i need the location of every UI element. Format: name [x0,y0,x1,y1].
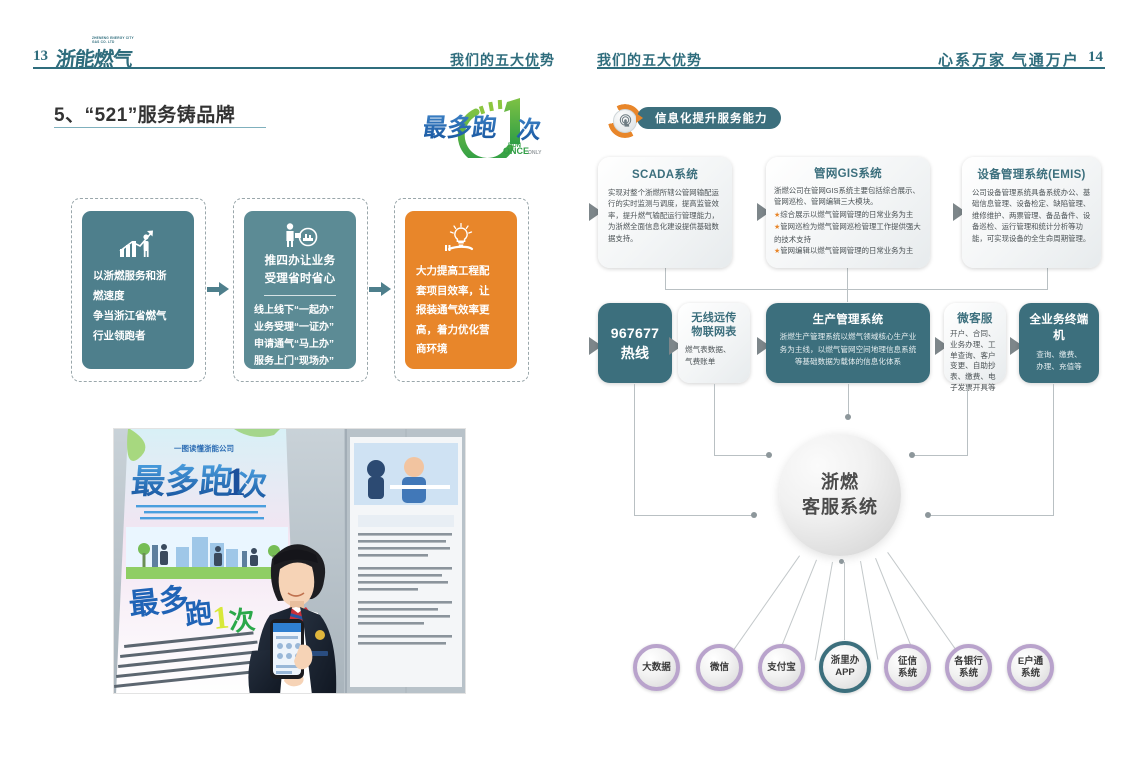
right-header-right: 心系万家 气通万户 [938,49,1080,70]
right-page-number: 14 [1088,49,1103,66]
system-box-iot-meter-title-1: 无线远传 [685,311,743,325]
advantage-card-2: 推四办让业务 受理省时省心 线上线下“一起办” 业务受理“一证办” 申请通气“马… [244,211,356,369]
page-gutter [567,0,568,780]
hub-customer-service-system: 浙燃 客服系统 [779,434,901,556]
system-box-gis-bullet-3: ★管网编辑以燃气管网管理的日常业务为主 [774,245,922,257]
connector-dot-left-inner [766,452,772,458]
system-box-terminal: 全业务终端机 查询、缴费、 办理、充值等 [1019,303,1099,383]
channel-node-big-data[interactable]: 大数据 [633,644,680,691]
connector-gis-v [847,268,848,302]
advantage-card-3-line-4: 高，着力优化营 [416,321,506,341]
advantage-card-2-divider [264,295,336,296]
system-box-wechat-service-body: 开户、合同、业务办理、工单查询、客户变更、自助抄表、缴费、电子发票开具等 [950,329,1000,394]
section-badge-label: 信息化提升服务能力 [637,107,781,129]
spoke-line-4 [844,562,845,640]
connector-production-v [848,384,849,416]
system-box-production: 生产管理系统 浙燃生产管理系统以燃气领域核心生产业务为主线，以燃气管网空间地理信… [766,303,930,383]
presentation-spread: 13 ZHENENG ENERGY CITY GAS CO. LTD 浙能燃气 … [0,0,1135,780]
system-box-hotline: 967677 热线 [598,303,672,383]
svg-text:最多跑: 最多跑 [424,114,499,142]
channel-label-banks-1: 各银行 [954,656,983,668]
connector-wechat-v [967,384,968,456]
connector-terminal-h [928,515,1054,516]
svg-text:ONLY: ONLY [528,150,542,156]
channel-node-credit-system[interactable]: 征信 系统 [884,644,931,691]
spoke-line-5 [860,561,878,660]
system-box-emis-title: 设备管理系统(EMIS) [972,166,1091,182]
system-box-gis: 管网GIS系统 浙燃公司在管网GIS系统主要包括综合展示、管网巡检、管网编辑三大… [766,157,930,268]
channel-label-banks-2: 系统 [954,668,983,680]
svg-text:一图读懂浙能公司: 一图读懂浙能公司 [174,443,234,453]
system-box-production-title: 生产管理系统 [777,311,919,327]
channel-node-alipay[interactable]: 支付宝 [758,644,805,691]
system-box-scada-title: SCADA系统 [608,166,722,182]
hub-line-1: 浙燃 [821,470,859,495]
connector-terminal-v [1053,384,1054,516]
service-counter-icon [244,211,356,248]
system-box-iot-meter-title-2: 物联网表 [685,325,743,339]
advantage-card-1-line-2: 燃速度 [93,286,183,306]
system-box-scada: SCADA系统 实现对整个浙燃所辖公管网输配运行的实时监测与调度，提高监管效率，… [598,157,732,268]
spoke-line-7 [887,552,958,653]
advantage-card-1: 以浙燃服务和浙 燃速度 争当浙江省燃气 行业领跑者 [82,211,194,369]
connector-dot-right-outer [925,512,931,518]
svg-text:次: 次 [236,468,269,502]
channel-label-wechat: 微信 [710,662,729,674]
channel-node-wechat[interactable]: 微信 [696,644,743,691]
advantage-card-1-line-1: 以浙燃服务和浙 [93,266,183,286]
channel-label-alipay: 支付宝 [767,662,796,674]
advantage-card-2-body-4: 服务上门“现场办” [254,353,346,369]
svg-text:ONCE: ONCE [503,146,529,156]
system-box-iot-meter-body: 燃气表数据、 气费账单 [685,344,743,368]
channel-label-ehutong-1: E户通 [1018,656,1043,668]
system-box-production-body: 浙燃生产管理系统以燃气领域核心生产业务为主线，以燃气管网空间地理信息系统等基础数… [777,331,919,369]
advantage-card-2-title-2: 受理省时省心 [254,270,346,288]
fingerprint-touch-icon [613,109,637,133]
arrow-2-stem [369,287,381,292]
arrow-1-stem [207,287,219,292]
svg-text:跑: 跑 [183,597,214,632]
system-box-gis-body: 浙燃公司在管网GIS系统主要包括综合展示、管网巡检、管网编辑三大模块。 [774,185,922,208]
system-box-iot-meter: 无线远传 物联网表 燃气表数据、 气费账单 [678,303,750,383]
advantage-card-2-body-2: 业务受理“一证办” [254,319,346,336]
system-box-emis-body: 公司设备管理系统具备系统办公、基础信息管理、设备检定、缺陷管理、维修维护、两票管… [972,187,1091,244]
system-box-emis: 设备管理系统(EMIS) 公司设备管理系统具备系统办公、基础信息管理、设备检定、… [962,157,1101,268]
advantage-card-2-body-3: 申请通气“马上办” [254,336,346,353]
channel-node-banks-system[interactable]: 各银行 系统 [945,644,992,691]
system-box-wechat-service: 微客服 开户、合同、业务办理、工单查询、客户变更、自助抄表、缴费、电子发票开具等 [944,303,1006,383]
connector-scada-v1 [665,268,666,290]
advantage-card-1-line-4: 行业领跑者 [93,326,183,346]
channel-label-ehutong-2: 系统 [1018,668,1043,680]
lightbulb-hand-icon [405,211,517,253]
svg-text:最多跑: 最多跑 [130,463,235,501]
channel-label-credit-2: 系统 [898,668,917,680]
system-box-gis-title: 管网GIS系统 [774,165,922,181]
left-header-title: 我们的五大优势 [450,50,555,70]
system-box-gis-bullet-1: ★综合展示以燃气管网管理的日常业务为主 [774,209,922,221]
channel-label-big-data: 大数据 [642,662,671,674]
advantage-card-3-line-2: 套项目效率，让 [416,282,506,302]
arrow-2-head [381,282,391,296]
channel-node-ehutong-system[interactable]: E户通 系统 [1007,644,1054,691]
system-box-scada-body: 实现对整个浙燃所辖公管网输配运行的实时监测与调度，提高监管效率，提升燃气输配运行… [608,187,722,244]
advantage-card-3-line-3: 报装通气效率更 [416,301,506,321]
connector-hotline-v [634,384,635,516]
page-title: 5、“521”服务铸品牌 [54,100,235,127]
connector-wechat-h [912,455,968,456]
channel-node-zheliban-app[interactable]: 浙里办 APP [819,641,871,693]
advantage-card-2-body-1: 线上线下“一起办” [254,302,346,319]
connector-emis-v1 [1047,268,1048,290]
svg-text:最多: 最多 [127,583,190,622]
svg-text:次: 次 [515,117,542,144]
run-once-logo: 最多跑 次 RUN ONCE ONLY [424,96,552,158]
connector-hotline-h [634,515,754,516]
system-box-gis-bullet-2: ★管网巡检为燃气管网巡检管理工作提供强大的技术支持 [774,221,922,245]
advantage-card-3-line-1: 大力提高工程配 [416,262,506,282]
system-box-terminal-body: 查询、缴费、 办理、充值等 [1026,349,1092,373]
system-box-hotline-title-2: 热线 [621,343,650,363]
connector-scada-h [665,289,848,290]
badge-arrow-icon [636,113,643,123]
system-box-terminal-title: 全业务终端机 [1026,311,1092,343]
advantage-card-1-line-3: 争当浙江省燃气 [93,306,183,326]
hub-bottom-dot [839,559,844,564]
channel-label-zheliban-1: 浙里办 [831,655,860,667]
event-photo: 一图读懂浙能公司 最多跑 1 次 [113,428,466,694]
hub-line-2: 客服系统 [802,495,878,520]
arrow-1-head [219,282,229,296]
system-box-hotline-title-1: 967677 [611,323,660,343]
advantage-card-3: 大力提高工程配 套项目效率，让 报装通气效率更 高，着力优化营 商环境 [405,211,517,369]
channel-label-credit-1: 征信 [898,656,917,668]
connector-emis-h [848,289,1048,290]
advantage-card-3-line-5: 商环境 [416,340,506,360]
left-page-number: 13 [33,48,48,65]
bar-chart-person-icon [82,211,194,259]
connector-iot-h [714,455,769,456]
advantage-card-2-title-1: 推四办让业务 [254,252,346,270]
company-logo: ZHENENG ENERGY CITY GAS CO. LTD 浙能燃气 [56,36,142,66]
channel-label-zheliban-2: APP [831,667,860,679]
connector-dot-right-inner [909,452,915,458]
connector-iot-v [714,384,715,456]
connector-dot-top [845,414,851,420]
connector-dot-left-outer [751,512,757,518]
system-box-wechat-service-title: 微客服 [950,310,1000,326]
spoke-line-1 [733,555,800,650]
page-title-underline [54,127,266,128]
